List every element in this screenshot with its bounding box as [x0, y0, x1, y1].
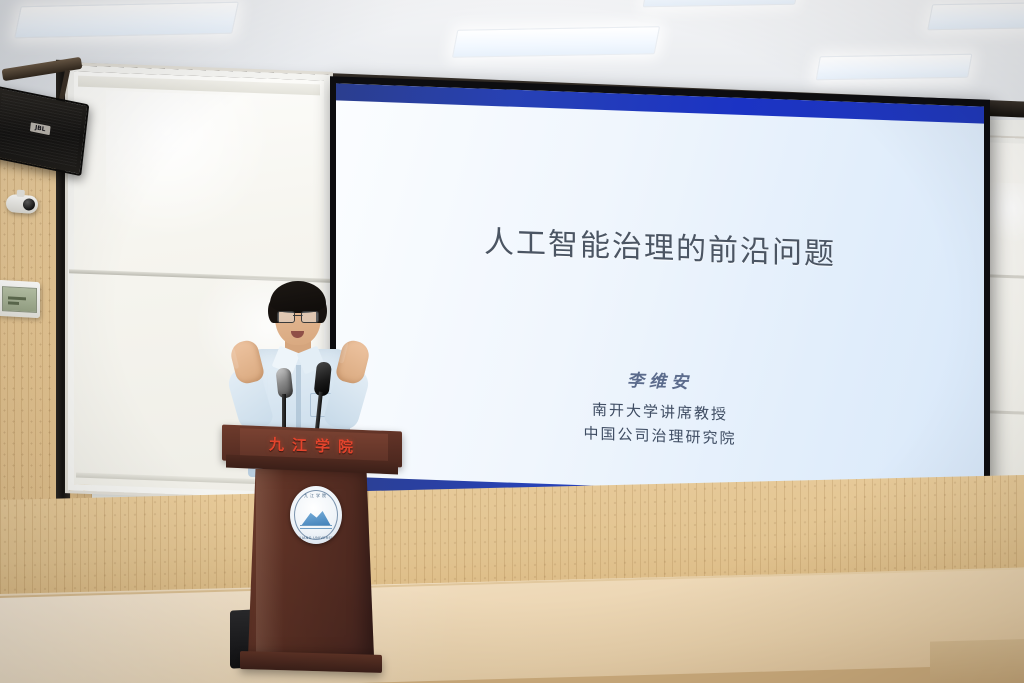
glasses-lens-right — [301, 311, 319, 323]
emblem-water-icon — [300, 525, 332, 531]
wall-control-panel[interactable] — [0, 280, 40, 318]
slide-title: 人工智能治理的前沿问题 — [336, 211, 984, 278]
presenter-hair — [270, 281, 326, 313]
display-line — [8, 301, 19, 305]
floor-side-strip — [930, 638, 1024, 683]
university-emblem: 九江学院 JIUJIANG UNIVERSITY — [290, 486, 342, 544]
whiteboard-glare — [106, 91, 276, 247]
emblem-cn-text: 九江学院 — [290, 493, 342, 499]
control-panel-display — [2, 286, 37, 313]
emblem-en-text: JIUJIANG UNIVERSITY — [290, 536, 342, 540]
glasses-lens-left — [277, 311, 295, 323]
ceiling-light-panel — [14, 2, 239, 39]
ceiling-light-panel — [452, 26, 660, 58]
display-line — [8, 296, 26, 300]
podium: 九江学院 JIUJIANG UNIVERSITY 九江学院 — [222, 428, 402, 678]
camera-lens-icon — [23, 198, 36, 211]
projection-screen-frame: 人工智能治理的前沿问题 李维安 南开大学讲席教授 中国公司治理研究院 中国公司治… — [330, 76, 990, 532]
camera-mount — [17, 190, 25, 198]
glasses-icon — [277, 311, 319, 321]
ceiling-light-panel — [816, 54, 973, 81]
ceiling-light-panel — [927, 2, 1024, 30]
lecture-hall-photo: JBL 人工智能治理的前沿问题 李维安 南开大学讲席教授 中国公司治理研究院 中… — [0, 0, 1024, 683]
presentation-slide: 人工智能治理的前沿问题 李维安 南开大学讲席教授 中国公司治理研究院 中国公司治… — [336, 83, 984, 523]
podium-highlight — [256, 469, 284, 657]
podium-base — [240, 651, 382, 673]
security-camera — [5, 194, 38, 214]
